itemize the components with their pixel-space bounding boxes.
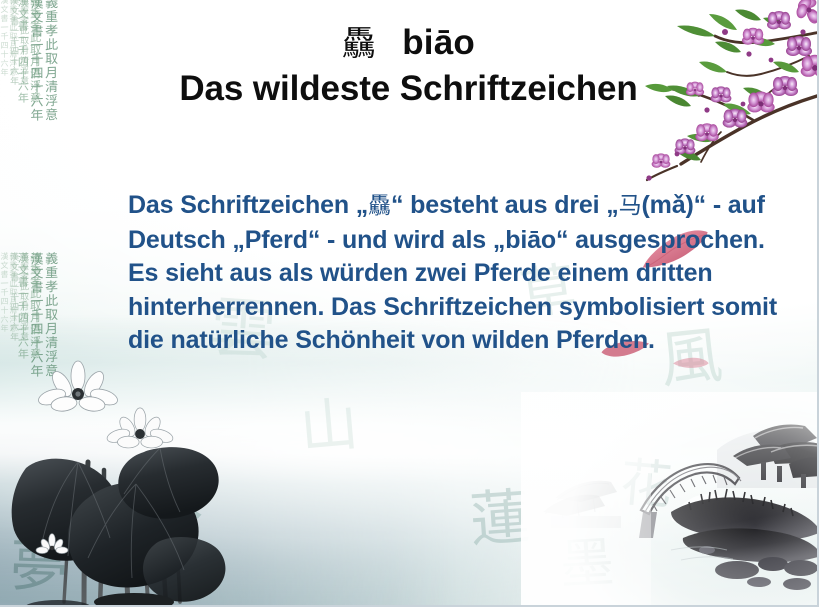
calligraphy-ghost-4: 山: [298, 398, 360, 455]
slide-body-text: Das Schriftzeichen „驫“ besteht aus drei …: [128, 189, 788, 358]
body-segment-1: Das Schriftzeichen „: [128, 191, 368, 219]
ink-lotus-icon: [0, 352, 242, 607]
presentation-slide: 草 風 雲 山 水 蓮 夢 墨 花 石 義重孝此取月清浮意 漢文書一千四十六年 …: [0, 0, 819, 607]
ink-landscape-icon: [521, 392, 819, 607]
body-paragraph: Das Schriftzeichen „驫“ besteht aus drei …: [128, 189, 788, 358]
body-character-ma: 马: [619, 193, 642, 219]
body-segment-2: “ besteht aus drei „: [391, 191, 619, 219]
title-pinyin: biāo: [402, 23, 475, 62]
title-chinese-character: 驫: [342, 24, 376, 64]
slide-title-block: 驫biāo Das wildeste Schriftzeichen: [0, 22, 817, 111]
page-title: 驫biāo: [0, 22, 817, 65]
body-character-biao: 驫: [368, 193, 391, 219]
page-subtitle: Das wildeste Schriftzeichen: [0, 67, 817, 111]
